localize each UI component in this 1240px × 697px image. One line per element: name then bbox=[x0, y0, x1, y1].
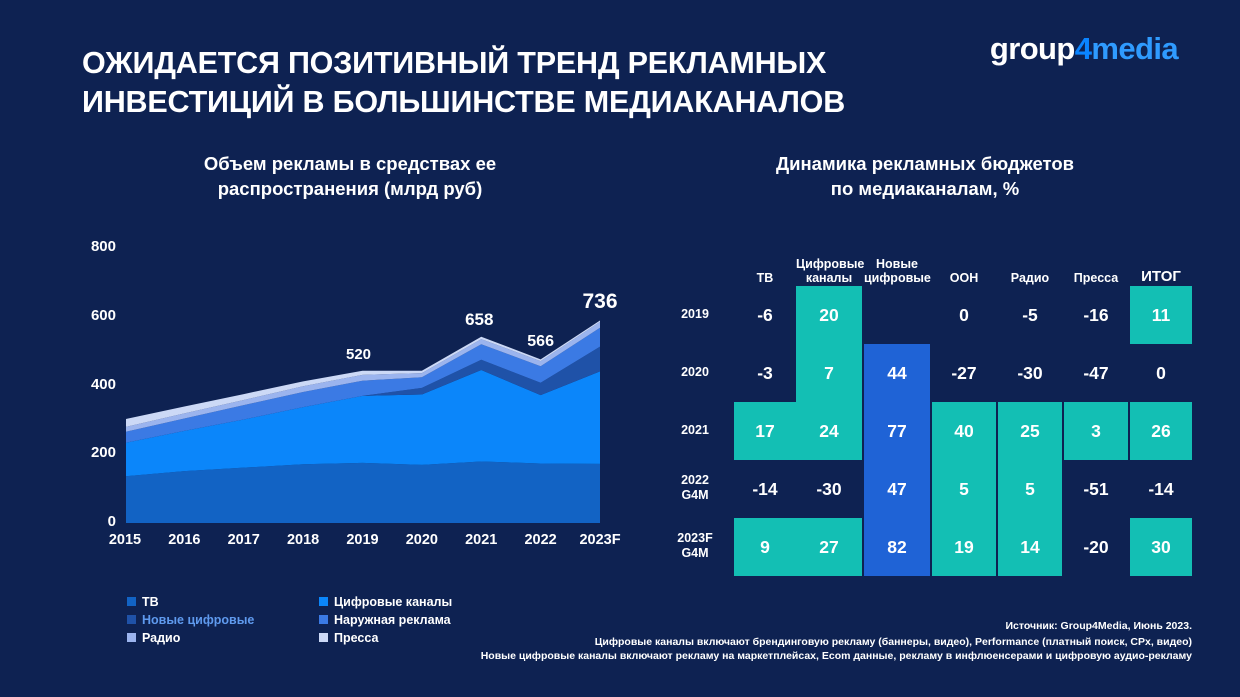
table-cell-r1-c6: 0 bbox=[1130, 344, 1192, 402]
logo-text-group: group bbox=[990, 31, 1075, 66]
table-cell-r4-c0: 9 bbox=[734, 518, 796, 576]
table-cell-r2-c1: 24 bbox=[796, 402, 862, 460]
table-cell-r1-c4: -30 bbox=[998, 344, 1062, 402]
legend-swatch-icon bbox=[319, 615, 328, 624]
left-chart-title-line-1: Объем рекламы в средствах ее bbox=[204, 153, 496, 174]
table-row-label-2020: 2020 bbox=[664, 365, 726, 380]
table-cell-r1-c1: 7 bbox=[796, 344, 862, 402]
legend-label: Новые цифровые bbox=[142, 613, 254, 627]
table-cell-r2-c3: 40 bbox=[932, 402, 996, 460]
data-label-2021: 658 bbox=[444, 310, 514, 330]
legend-item-0[interactable]: ТВ bbox=[127, 594, 254, 609]
legend-swatch-icon bbox=[127, 615, 136, 624]
group4media-logo: group4media bbox=[990, 33, 1178, 64]
x-tick-2017: 2017 bbox=[214, 532, 274, 548]
table-cell-r0-c4: -5 bbox=[998, 286, 1062, 344]
footnote-new-digital-channels: Новые цифровые каналы включают рекламу н… bbox=[481, 650, 1192, 662]
table-cell-r4-c5: -20 bbox=[1064, 518, 1128, 576]
x-tick-2018: 2018 bbox=[273, 532, 333, 548]
table-column-header-5: Пресса bbox=[1064, 271, 1128, 286]
legend-item-4[interactable]: Радио bbox=[127, 630, 254, 645]
x-tick-2019: 2019 bbox=[333, 532, 393, 548]
headline-line-2: ИНВЕСТИЦИЙ В БОЛЬШИНСТВЕ МЕДИАКАНАЛОВ bbox=[82, 83, 962, 122]
table-cell-r2-c6: 26 bbox=[1130, 402, 1192, 460]
legend-item-5[interactable]: Пресса bbox=[319, 630, 452, 645]
table-column-header-6: ИТОГ bbox=[1130, 268, 1192, 286]
footnote-digital-channels: Цифровые каналы включают брендинговую ре… bbox=[595, 636, 1192, 648]
slide-root: group4media ОЖИДАЕТСЯ ПОЗИТИВНЫЙ ТРЕНД Р… bbox=[0, 0, 1240, 697]
legend-label: Наружная реклама bbox=[334, 613, 451, 627]
legend-label: Пресса bbox=[334, 631, 378, 645]
table-cell-r0-c0: -6 bbox=[734, 286, 796, 344]
table-cell-r4-c3: 19 bbox=[932, 518, 996, 576]
table-column-header-3: ООН bbox=[932, 271, 996, 286]
x-tick-2016: 2016 bbox=[154, 532, 214, 548]
table-cell-r1-c3: -27 bbox=[932, 344, 996, 402]
y-tick-400: 400 bbox=[70, 376, 116, 393]
headline-line-1: ОЖИДАЕТСЯ ПОЗИТИВНЫЙ ТРЕНД РЕКЛАМНЫХ bbox=[82, 44, 962, 83]
area-chart-svg bbox=[70, 240, 615, 540]
table-cell-r3-c4: 5 bbox=[998, 460, 1062, 518]
right-table-title-line-1: Динамика рекламных бюджетов bbox=[776, 153, 1074, 174]
table-cell-r3-c2: 47 bbox=[864, 460, 930, 518]
y-tick-800: 800 bbox=[70, 238, 116, 255]
table-cell-r1-c0: -3 bbox=[734, 344, 796, 402]
table-row-label-2021: 2021 bbox=[664, 423, 726, 438]
legend-swatch-icon bbox=[319, 633, 328, 642]
table-cell-r0-c5: -16 bbox=[1064, 286, 1128, 344]
table-column-header-2: Новыецифровые bbox=[864, 257, 930, 287]
stacked-area-chart: 0200400600800 20152016201720182019202020… bbox=[70, 240, 615, 560]
table-cell-r0-c1: 20 bbox=[796, 286, 862, 344]
legend-label: Цифровые каналы bbox=[334, 595, 452, 609]
table-cell-r4-c6: 30 bbox=[1130, 518, 1192, 576]
table-cell-r4-c4: 14 bbox=[998, 518, 1062, 576]
table-cell-r0-c6: 11 bbox=[1130, 286, 1192, 344]
table-cell-r2-c2: 77 bbox=[864, 402, 930, 460]
data-label-2022: 566 bbox=[506, 333, 576, 351]
table-row-label-2022-G4M: 2022G4M bbox=[664, 473, 726, 503]
table-column-header-1: Цифровыеканалы bbox=[796, 257, 862, 287]
x-tick-2021: 2021 bbox=[451, 532, 511, 548]
data-label-2023F: 736 bbox=[565, 290, 635, 314]
source-note: Источник: Group4Media, Июнь 2023. bbox=[1005, 620, 1192, 632]
table-cell-r0-c2 bbox=[864, 286, 930, 344]
table-cell-r2-c5: 3 bbox=[1064, 402, 1128, 460]
legend-item-3[interactable]: Наружная реклама bbox=[319, 612, 452, 627]
table-cell-r4-c2: 82 bbox=[864, 518, 930, 576]
table-column-header-4: Радио bbox=[998, 271, 1062, 286]
legend-item-1[interactable]: Цифровые каналы bbox=[319, 594, 452, 609]
legend-label: ТВ bbox=[142, 595, 159, 609]
legend-swatch-icon bbox=[319, 597, 328, 606]
table-cell-r3-c1: -30 bbox=[796, 460, 862, 518]
table-row-label-2023F-G4M: 2023FG4M bbox=[664, 531, 726, 561]
data-label-2019: 520 bbox=[324, 346, 394, 363]
table-cell-r2-c0: 17 bbox=[734, 402, 796, 460]
page-title: ОЖИДАЕТСЯ ПОЗИТИВНЫЙ ТРЕНД РЕКЛАМНЫХ ИНВ… bbox=[82, 44, 962, 122]
table-cell-r3-c6: -14 bbox=[1130, 460, 1192, 518]
table-cell-r2-c4: 25 bbox=[998, 402, 1062, 460]
legend-item-2[interactable]: Новые цифровые bbox=[127, 612, 254, 627]
right-table-title: Динамика рекламных бюджетов по медиакана… bbox=[660, 152, 1190, 202]
legend-swatch-icon bbox=[127, 633, 136, 642]
x-tick-2023F: 2023F bbox=[570, 532, 630, 548]
table-cell-r0-c3: 0 bbox=[932, 286, 996, 344]
table-cell-r1-c5: -47 bbox=[1064, 344, 1128, 402]
table-row-label-2019: 2019 bbox=[664, 307, 726, 322]
left-chart-title-line-2: распространения (млрд руб) bbox=[218, 178, 483, 199]
legend-swatch-icon bbox=[127, 597, 136, 606]
table-cell-r3-c5: -51 bbox=[1064, 460, 1128, 518]
logo-text-media: media bbox=[1091, 31, 1178, 66]
left-chart-title: Объем рекламы в средствах ее распростран… bbox=[95, 152, 605, 202]
area-band-ТВ bbox=[125, 461, 600, 523]
table-cell-r3-c0: -14 bbox=[734, 460, 796, 518]
y-tick-0: 0 bbox=[70, 513, 116, 530]
logo-text-four: 4 bbox=[1075, 31, 1092, 66]
y-tick-200: 200 bbox=[70, 444, 116, 461]
table-column-header-0: ТВ bbox=[734, 271, 796, 286]
right-table-title-line-2: по медиаканалам, % bbox=[831, 178, 1019, 199]
x-tick-2015: 2015 bbox=[95, 532, 155, 548]
table-cell-r4-c1: 27 bbox=[796, 518, 862, 576]
x-tick-2020: 2020 bbox=[392, 532, 452, 548]
legend-column-left: ТВНовые цифровыеРадио bbox=[127, 594, 254, 648]
x-tick-2022: 2022 bbox=[511, 532, 571, 548]
table-cell-r1-c2: 44 bbox=[864, 344, 930, 402]
table-cell-r3-c3: 5 bbox=[932, 460, 996, 518]
legend-label: Радио bbox=[142, 631, 180, 645]
y-tick-600: 600 bbox=[70, 307, 116, 324]
legend-column-right: Цифровые каналыНаружная рекламаПресса bbox=[319, 594, 452, 648]
